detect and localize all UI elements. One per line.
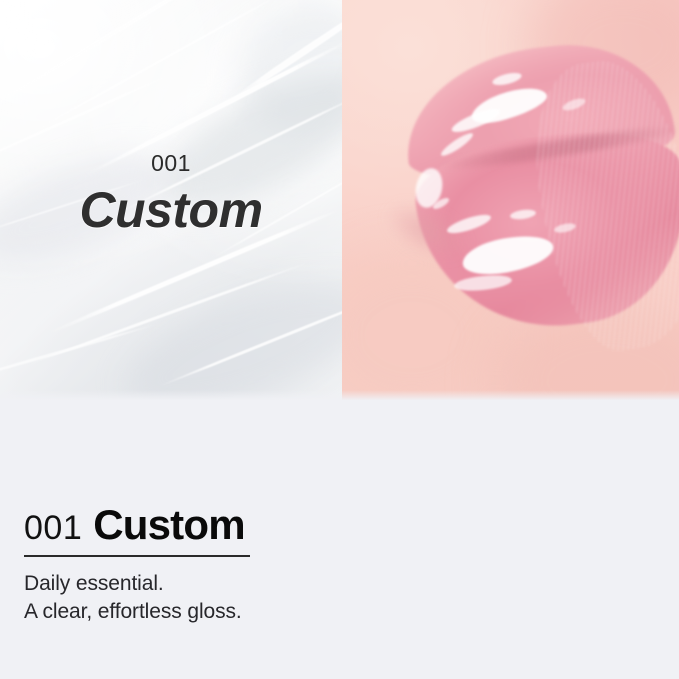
product-title: 001 Custom — [24, 504, 679, 546]
product-detail-page: 001 Custom — [0, 0, 679, 679]
product-shade-name: Custom — [93, 504, 245, 546]
product-info-block: 001 Custom Daily essential. A clear, eff… — [0, 400, 679, 679]
product-shade-number: 001 — [24, 511, 82, 545]
gloss-swatch-panel: 001 Custom — [0, 0, 342, 400]
description-line-1: Daily essential. — [24, 570, 679, 599]
swatch-shade-name: Custom — [0, 184, 342, 237]
product-description: Daily essential. A clear, effortless glo… — [24, 570, 679, 628]
lips-photo-panel — [342, 0, 679, 400]
swatch-shade-number: 001 — [0, 152, 342, 175]
title-underline-rule — [24, 555, 250, 557]
hero-bottom-fade — [0, 390, 679, 400]
swatch-caption: 001 Custom — [0, 152, 342, 237]
description-line-2: A clear, effortless gloss. — [24, 598, 679, 627]
hero-image-row: 001 Custom — [0, 0, 679, 400]
